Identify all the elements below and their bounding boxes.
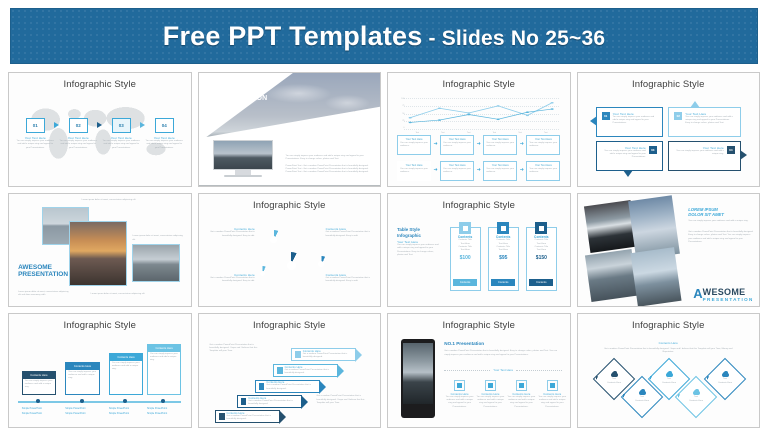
banner-title-sub: Slides No 25~36 [442, 27, 606, 50]
header-banner: Free PPT Templates - Slides No 25~36 [10, 8, 758, 64]
arrow-left-icon: ➜ [474, 168, 483, 173]
diamond-sub: Contents Here [607, 381, 621, 384]
quadrant-body: You can simply impress your audience and… [602, 150, 646, 160]
monitor-mockup [213, 140, 273, 177]
quadrant-body: You can simply impress your audience and… [674, 150, 724, 157]
quadrant-number: 03 [649, 146, 657, 154]
card-button[interactable]: Contents [453, 279, 477, 286]
divider-label: Your Text Here [493, 368, 513, 372]
feature-column[interactable]: Contents Here You can simply impress you… [537, 380, 568, 409]
feature-body: You can simply impress your audience and… [475, 396, 506, 409]
target-icon [219, 413, 225, 420]
cloud-icon [692, 391, 699, 395]
chevron-step[interactable]: Contents Here Get a modern PowerPoint Pr… [255, 380, 320, 393]
awesome-brand: A WESOME PRESENTATION [693, 288, 753, 302]
cloud-icon [721, 373, 728, 377]
pricing-card[interactable]: Contents Contents Title Text Here Conten… [526, 227, 557, 290]
step-body: You can simply impress your audience and… [102, 140, 140, 150]
monitor-screen [213, 140, 273, 170]
arrow-left-icon: ➜ [517, 168, 526, 173]
chevron-step[interactable]: Contents Here Get a modern PowerPoint Pr… [291, 348, 356, 361]
side-body: You can simply impress your audience and… [397, 244, 441, 257]
caption-right: Lorem ipsum dolor sit amet, consectetuer… [132, 235, 183, 242]
step-item[interactable]: 04 Your Text Here You can simply impress… [145, 118, 183, 150]
box-head: Your Text Here [486, 164, 514, 167]
slide-thumbnail-phone-no1[interactable]: Infographic Style NO.1 Presentation Get … [387, 313, 571, 428]
card-head: Contents Here [66, 363, 98, 370]
step-item[interactable]: 02 Your Text Here You can simply impress… [59, 118, 97, 150]
gear-callout[interactable]: Contents Here Get a modern PowerPoint Pr… [326, 227, 373, 238]
timeline-tick: Simple PowerPoint [22, 412, 42, 415]
step-number: 02 [69, 118, 88, 133]
box-head: Your Text Here [486, 138, 514, 141]
card-price: $95 [499, 255, 507, 261]
collage-photo-lighthouse [630, 247, 681, 307]
collage-head-line1: LOREM IPSUM [688, 207, 718, 212]
chevron-step[interactable]: Contents Here Get a modern PowerPoint Pr… [237, 395, 302, 408]
feature-column[interactable]: Contents Here You can simply impress you… [506, 380, 537, 409]
brand-wesome: WESOME [703, 288, 754, 297]
photo-boats [132, 244, 179, 281]
divider-row: Your Text Here [444, 368, 562, 372]
diamond-sub: Contents Here [662, 381, 676, 384]
no1-heading: NO.1 Presentation [444, 341, 484, 346]
photo-sunset [69, 221, 127, 286]
smartphone-mockup [401, 339, 435, 418]
box-head: Your Text Here [443, 138, 471, 141]
note-bottom: Get a modern PowerPoint Presentation tha… [317, 395, 371, 405]
card-button[interactable]: Contents [491, 279, 515, 286]
card-icon [497, 222, 509, 234]
step-body: You can simply impress your audience and… [145, 140, 183, 150]
slide-kicker: Lorem Ipsum Dolor Sit Amet [211, 84, 267, 87]
box-body: You can simply impress your audience. [400, 168, 428, 175]
gear-icon [674, 394, 682, 402]
templates-preview-page: Free PPT Templates - Slides No 25~36 Inf… [0, 0, 768, 435]
step-body: You can simply impress your audience and… [16, 140, 54, 150]
quadrant-number: 04 [727, 146, 735, 154]
arrow-left-icon: ➜ [431, 168, 440, 173]
feature-body: You can simply impress your audience and… [444, 396, 475, 409]
image-icon [454, 380, 465, 391]
share-icon [485, 380, 496, 391]
awesome-heading: AWESOME PRESENTATION [18, 264, 68, 279]
feature-column[interactable]: Contents Here You can simply impress you… [444, 380, 475, 409]
box-body: You can simply impress your audience. [486, 168, 514, 175]
slide-title: Infographic Style [388, 200, 570, 211]
gear-callout[interactable]: Contents Here Get a modern PowerPoint Pr… [326, 273, 373, 284]
cloud-icon [611, 373, 618, 377]
quadrant-body: You can simply impress your audience and… [613, 116, 657, 126]
feature-body: You can simply impress your audience and… [506, 396, 537, 409]
timeline-card[interactable]: Contents Here You can simply impress you… [22, 371, 56, 396]
slide-heading: Lorem Ipsum Dolor Sit Amet AWESOME PRESE… [211, 84, 267, 103]
callout-body: Get a modern PowerPoint Presentation tha… [326, 277, 373, 284]
brand-presentation: PRESENTATION [703, 297, 754, 302]
banner-title-main: Free PPT Templates [163, 21, 423, 51]
quadrant-box[interactable]: Your Text Here You can simply impress yo… [668, 141, 741, 171]
slide-thumbnail-line-chart-process[interactable]: Infographic Style 1007550250 [387, 72, 571, 187]
slide-thumbnail-timeline[interactable]: Infographic Style Contents Here You can … [8, 313, 192, 428]
chevron-step[interactable]: Contents Here Get a modern PowerPoint Pr… [273, 364, 338, 377]
step-number: 03 [112, 118, 131, 133]
chevron-body: Get a modern PowerPoint Presentation tha… [303, 353, 356, 360]
slide-thumbnail-chevron-staircase[interactable]: Infographic Style Get a modern PowerPoin… [198, 313, 382, 428]
card-body: You can simply impress your audience and… [23, 379, 55, 391]
slide-thumbnail-grid: Infographic Style 01 Your Text Here You … [8, 72, 760, 428]
callout-body: Get a modern PowerPoint Presentation tha… [208, 231, 255, 238]
monitor-base [224, 175, 261, 177]
gear-callout[interactable]: Contents Here Get a modern PowerPoint Pr… [208, 273, 255, 284]
no1-body: Get a modern PowerPoint Presentation tha… [444, 350, 562, 357]
process-row-bottom: Your Text HereYou can simply impress you… [397, 161, 560, 181]
timeline-tick: Simple PowerPoint [65, 412, 85, 415]
slide-thumbnail-three-photos[interactable]: Lorem ipsum dolor sit amet, consectetuer… [8, 193, 192, 308]
process-box[interactable]: Your Text HereYou can simply impress you… [483, 161, 517, 181]
cloud-icon [665, 373, 672, 377]
chevron-body: Get a modern PowerPoint Presentation tha… [227, 415, 280, 422]
box-body: You can simply impress your audience. [529, 142, 557, 149]
box-body: You can simply impress your audience. [443, 142, 471, 149]
feature-column[interactable]: Contents Here You can simply impress you… [475, 380, 506, 409]
step-number: 04 [155, 118, 174, 133]
chevron-body: Get a modern PowerPoint Presentation tha… [266, 384, 319, 391]
collage-text: LOREM IPSUM DOLOR SIT AMET You can simpl… [688, 207, 753, 244]
process-box[interactable]: Your Text HereYou can simply impress you… [397, 135, 431, 155]
slide-body-text: You can simply impress your audience and… [286, 155, 373, 174]
slide-title: Infographic Style [578, 320, 760, 331]
box-head: Your Text Here [400, 164, 428, 167]
timeline-tick: Simple PowerPoint [147, 407, 167, 410]
gear-icon [703, 376, 711, 384]
bullet-item: PowerPoint Text - Get a modern PowerPoin… [286, 171, 373, 174]
process-box[interactable]: Your Text HereYou can simply impress you… [483, 135, 517, 155]
process-box[interactable]: Your Text HereYou can simply impress you… [526, 135, 560, 155]
process-box[interactable]: Your Text HereYou can simply impress you… [526, 161, 560, 181]
awesome-line1: AWESOME [18, 264, 68, 271]
timeline-tick: Simple PowerPoint [22, 407, 42, 410]
sub-head: Contents Here [578, 341, 760, 345]
card-head: Contents Here [23, 372, 55, 379]
side-panel: Table Style Infographic Your Text Here Y… [397, 227, 441, 257]
slide-title: Infographic Style [199, 320, 381, 331]
collage-body: Get a modern PowerPoint Presentation tha… [688, 231, 753, 244]
tablet-icon [516, 380, 527, 391]
chevron-body: Get a modern PowerPoint Presentation tha… [285, 369, 338, 376]
timeline-tick: Simple PowerPoint [147, 412, 167, 415]
process-box[interactable]: Your Text HereYou can simply impress you… [440, 135, 474, 155]
process-row-top: Your Text HereYou can simply impress you… [397, 135, 560, 155]
step-item[interactable]: 01 Your Text Here You can simply impress… [16, 118, 54, 150]
gear-icon [259, 383, 265, 390]
sub-body: Get a modern PowerPoint Presentation tha… [603, 348, 734, 355]
footer-text: Lorem ipsum dolor sit amet, consectetuer… [18, 291, 69, 298]
banner-title-separator: - [422, 27, 441, 50]
box-head: Your Text Here [529, 164, 557, 167]
box-head: Your Text Here [400, 138, 428, 141]
timeline-card[interactable]: Contents Here You can simply impress you… [65, 362, 99, 396]
box-head: Your Text Here [443, 164, 471, 167]
chat-icon [547, 380, 558, 391]
diamond-sub: Contents Here [718, 381, 732, 384]
arrow-down-icon [623, 170, 633, 177]
cloud-icon [295, 351, 301, 358]
slide-title: Infographic Style [578, 79, 760, 90]
chevron-body: Get a modern PowerPoint Presentation tha… [248, 400, 301, 407]
quadrant-number: 01 [602, 112, 610, 120]
slide-thumbnail-world-map-steps[interactable]: Infographic Style 01 Your Text Here You … [8, 72, 192, 187]
side-heading-line1: Table Style [397, 227, 420, 232]
gear-callout[interactable]: Contents Here Get a modern PowerPoint Pr… [208, 227, 255, 238]
slide-title: Infographic Style [388, 320, 570, 331]
step-body: You can simply impress your audience and… [59, 140, 97, 150]
gear-icon [278, 252, 304, 278]
step-number: 01 [26, 118, 45, 133]
card-icon [459, 222, 471, 234]
slide-title: Infographic Style [9, 320, 191, 331]
slide-thumbnail-gears[interactable]: Infographic Style Contents Here Get a mo… [198, 193, 382, 308]
box-body: You can simply impress your audience. [443, 168, 471, 175]
timeline-card[interactable]: Contents Here You can simply impress you… [109, 353, 143, 396]
slide-title: Infographic Style [388, 79, 570, 90]
box-body: You can simply impress your audience. [486, 142, 514, 149]
card-price: $150 [536, 255, 547, 261]
caption-top: Lorem ipsum dolor sit amet, consectetuer… [82, 199, 136, 202]
collage-sub: You can simply impress your audience and… [688, 220, 753, 223]
card-body: You can simply impress your audience and… [110, 361, 142, 373]
timeline-card[interactable]: Contents Here You can simply impress you… [147, 344, 181, 396]
chart-icon [277, 367, 283, 374]
card-head: Contents Here [110, 354, 142, 361]
arrow-right-icon: ➜ [431, 142, 440, 147]
card-row: Text Here [499, 249, 508, 252]
arrow-right-icon [740, 150, 747, 160]
card-row: Text Here [460, 249, 469, 252]
collage-head-line2: DOLOR SIT AMET [688, 212, 724, 217]
timeline-tick: Simple PowerPoint [109, 407, 129, 410]
slide-thumbnail-awesome-presentation[interactable]: Lorem Ipsum Dolor Sit Amet AWESOME PRESE… [198, 72, 382, 187]
card-row: Text Here [537, 249, 546, 252]
quadrant-body: You can simply impress your audience and… [685, 116, 735, 126]
box-body: You can simply impress your audience. [400, 142, 428, 149]
gear-icon [313, 256, 330, 273]
pricing-card[interactable]: Contents Contents Title Text Here Conten… [488, 227, 519, 290]
pricing-card[interactable]: Contents Contents Title Text Here Conten… [450, 227, 481, 290]
card-body: You can simply impress your audience and… [66, 370, 98, 382]
arrow-up-icon [690, 101, 700, 108]
diamond-sub: Contents Here [689, 399, 703, 402]
side-heading-line2: Infographic [397, 233, 421, 238]
quadrant-number: 02 [674, 112, 682, 120]
chart-y-axis: 1007550250 [395, 98, 404, 130]
phone-screen [403, 343, 433, 404]
monitor-stand [235, 170, 252, 175]
timeline-tick: Simple PowerPoint [65, 407, 85, 410]
arrow-left-icon [590, 116, 597, 126]
brand-letter-a: A [693, 288, 702, 299]
slide-title-line2: PRESENTATION [211, 95, 267, 103]
line-chart: 1007550250 TextTextTextTextTextText [404, 98, 558, 130]
slide-thumbnail-photo-collage[interactable]: LOREM IPSUM DOLOR SIT AMET You can simpl… [577, 193, 761, 308]
note-top: Get a modern PowerPoint Presentation tha… [209, 344, 263, 354]
card-icon [535, 222, 547, 234]
awesome-line2: PRESENTATION [18, 271, 68, 278]
chevron-step[interactable]: Contents Here Get a modern PowerPoint Pr… [215, 410, 280, 423]
cloud-icon [638, 391, 645, 395]
arrow-right-icon: ➜ [517, 142, 526, 147]
card-body: You can simply impress your audience and… [148, 352, 180, 364]
timeline-tick: Simple PowerPoint [109, 412, 129, 415]
step-row: 01 Your Text Here You can simply impress… [16, 118, 183, 150]
process-box[interactable]: Your Text HereYou can simply impress you… [397, 161, 431, 181]
quadrant-box[interactable]: 02 Your Text Here You can simply impress… [668, 107, 741, 137]
slide-thumbnail-table-pricing[interactable]: Infographic Style Table Style Infographi… [387, 193, 571, 308]
callout-body: Get a modern PowerPoint Presentation tha… [326, 231, 373, 238]
card-price: $100 [460, 255, 471, 261]
process-box[interactable]: Your Text HereYou can simply impress you… [440, 161, 474, 181]
banner-title: Free PPT Templates - Slides No 25~36 [163, 21, 605, 52]
quadrant-box[interactable]: 01 Your Text Here You can simply impress… [596, 107, 663, 137]
card-button[interactable]: Contents [529, 279, 553, 286]
box-head: Your Text Here [529, 138, 557, 141]
body-paragraph: You can simply impress your audience and… [286, 155, 373, 162]
gear-icon [264, 230, 284, 250]
arrow-right-icon: ➜ [474, 142, 483, 147]
slide-title-line1: AWESOME [211, 87, 267, 95]
box-body: You can simply impress your audience. [529, 168, 557, 175]
calendar-icon [241, 398, 247, 405]
slide-thumbnail-diamond-zigzag[interactable]: Infographic Style Contents Here Get a mo… [577, 313, 761, 428]
slide-title: Infographic Style [9, 79, 191, 90]
caption-bottom: Lorem ipsum dolor sit amet, consectetuer… [91, 293, 145, 296]
step-item[interactable]: 03 Your Text Here You can simply impress… [102, 118, 140, 150]
diamond-sub: Contents Here [634, 399, 648, 402]
card-head: Contents Here [148, 345, 180, 352]
feature-body: You can simply impress your audience and… [537, 396, 568, 409]
slide-thumbnail-four-quadrant[interactable]: Infographic Style 01 Your Text Here You … [577, 72, 761, 187]
quadrant-box[interactable]: Your Text Here You can simply impress yo… [596, 141, 663, 171]
gear-icon [255, 266, 270, 281]
timeline-axis [18, 401, 181, 403]
slide-title: Infographic Style [199, 200, 381, 211]
callout-body: Get a modern PowerPoint Presentation tha… [208, 277, 255, 284]
